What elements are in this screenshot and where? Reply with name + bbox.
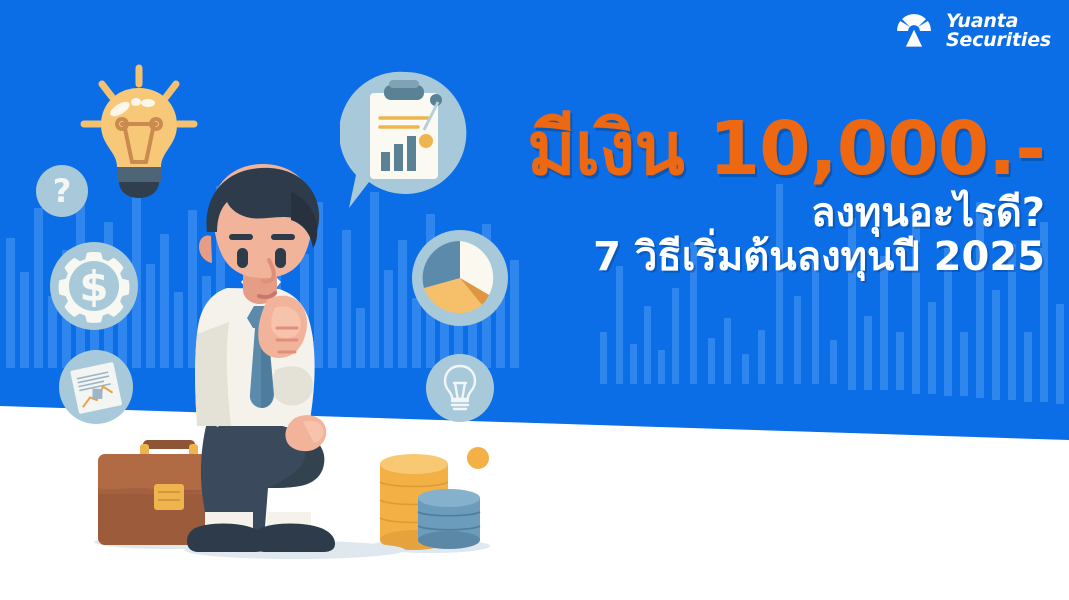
svg-text:$: $ bbox=[79, 262, 108, 311]
illustration-group: ? bbox=[0, 0, 1069, 600]
svg-text:?: ? bbox=[53, 172, 72, 210]
brand-name: Yuanta Securities bbox=[946, 12, 1051, 50]
gear-dollar-icon: $ bbox=[48, 240, 140, 332]
investment-promo-banner: Yuanta Securities มีเงิน 10,000.- ลงทุนอ… bbox=[0, 0, 1069, 600]
yuanta-circle-logo-icon bbox=[894, 11, 934, 51]
thinking-businessman bbox=[155, 160, 415, 560]
brand-name-line2: Securities bbox=[946, 31, 1051, 50]
headline-sub1: ลงทุนอะไรดี? bbox=[527, 192, 1045, 234]
blue-coin-stack bbox=[418, 489, 480, 549]
document-chart-icon bbox=[57, 348, 135, 426]
brand-logo[interactable]: Yuanta Securities bbox=[894, 11, 1051, 51]
floating-coin bbox=[467, 447, 489, 469]
headline-sub2: 7 วิธีเริ่มต้นลงทุนปี 2025 bbox=[527, 236, 1045, 278]
headline-main: มีเงิน 10,000.- bbox=[527, 112, 1045, 186]
headline-block: มีเงิน 10,000.- ลงทุนอะไรดี? 7 วิธีเริ่ม… bbox=[527, 112, 1045, 279]
pie-chart-icon bbox=[410, 228, 510, 328]
lightbulb-outline-icon bbox=[424, 352, 496, 424]
